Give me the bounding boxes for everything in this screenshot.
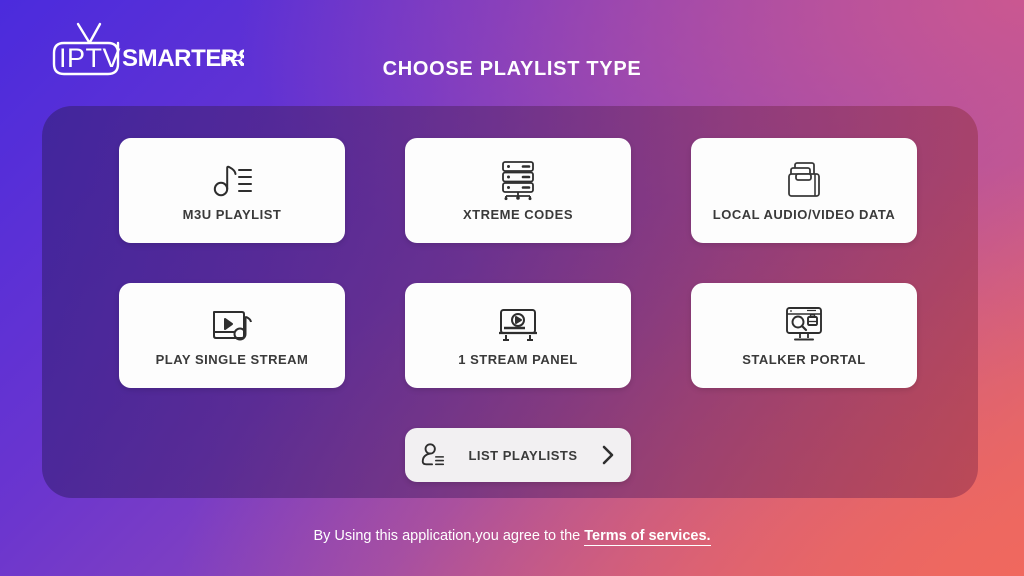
video-play-music-icon (209, 304, 255, 348)
page-title: CHOOSE PLAYLIST TYPE (0, 58, 1024, 81)
playlist-type-grid: M3U PLAYLIST (119, 138, 917, 482)
choose-playlist-screen: IPTV SMARTERS PRO IPTV SMARTERS PRO CHOO… (0, 0, 1024, 576)
card-local-audio-video-data[interactable]: LOCAL AUDIO/VIDEO DATA (691, 138, 917, 243)
playlist-row-2: PLAY SINGLE STREAM (119, 283, 917, 388)
card-play-single-stream[interactable]: PLAY SINGLE STREAM (119, 283, 345, 388)
footer-text: By Using this application,you agree to t… (313, 528, 584, 544)
card-label: M3U PLAYLIST (183, 207, 282, 222)
playlist-row-1: M3U PLAYLIST (119, 138, 917, 243)
card-xtreme-codes[interactable]: XTREME CODES (405, 138, 631, 243)
user-list-icon (419, 441, 447, 469)
footer-terms: By Using this application,you agree to t… (0, 528, 1024, 544)
terms-of-services-link[interactable]: Terms of services. (584, 528, 710, 546)
list-playlists-label: LIST PLAYLISTS (447, 448, 599, 463)
card-label: XTREME CODES (463, 207, 573, 222)
card-1-stream-panel[interactable]: 1 STREAM PANEL (405, 283, 631, 388)
chevron-right-icon[interactable] (599, 443, 617, 467)
monitor-search-icon (781, 304, 827, 348)
card-m3u-playlist[interactable]: M3U PLAYLIST (119, 138, 345, 243)
card-label: 1 STREAM PANEL (458, 352, 577, 367)
tv-play-icon (495, 304, 541, 348)
server-rack-icon (496, 159, 540, 203)
card-label: STALKER PORTAL (742, 352, 866, 367)
card-label: PLAY SINGLE STREAM (156, 352, 309, 367)
file-folder-icon (782, 159, 826, 203)
card-label: LOCAL AUDIO/VIDEO DATA (713, 207, 895, 222)
list-playlists-button[interactable]: LIST PLAYLISTS (405, 428, 631, 482)
music-note-list-icon (210, 159, 254, 203)
playlist-type-panel: M3U PLAYLIST (42, 106, 978, 498)
card-stalker-portal[interactable]: STALKER PORTAL (691, 283, 917, 388)
list-playlists-row: LIST PLAYLISTS (119, 428, 917, 482)
